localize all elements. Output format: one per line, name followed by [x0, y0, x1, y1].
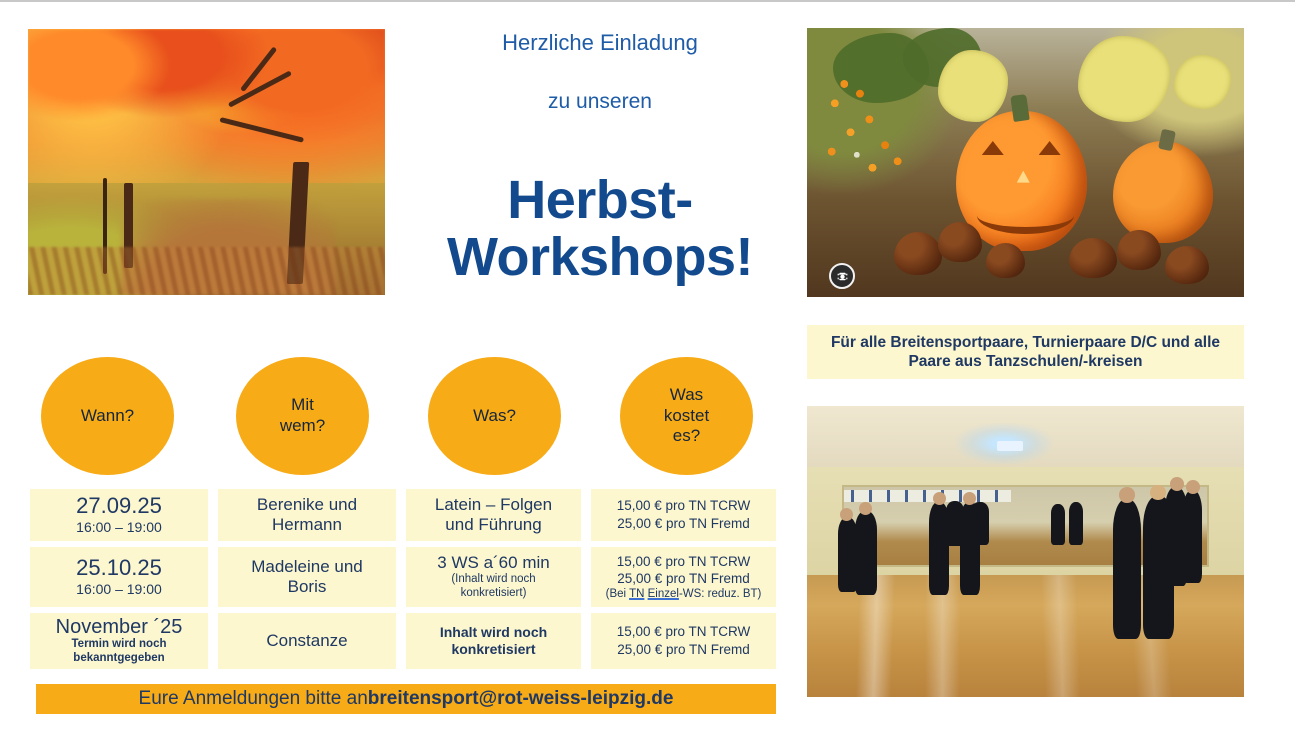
price-2-line-1: 15,00 € pro TN TCRW: [617, 553, 751, 571]
ceiling-lamp: [997, 441, 1023, 451]
price-2-note-pre: (Bei: [606, 588, 629, 600]
chestnut-2: [938, 222, 982, 262]
price-2-note-tn: TN: [629, 588, 644, 600]
note-line-2: Paare aus Tanzschulen/-kreisen: [908, 353, 1142, 370]
circle-label-when: Wann?: [41, 357, 174, 475]
registration-text: Eure Anmeldungen bitte an: [139, 688, 368, 710]
chestnut-1: [894, 232, 942, 275]
circle-cost-line-2: kostet: [664, 406, 709, 425]
orange-berries-cluster: [816, 55, 973, 216]
price-2-note-einzel: Einzel: [648, 588, 679, 600]
date-3: November ´25: [56, 616, 183, 638]
price-3-line-1: 15,00 € pro TN TCRW: [617, 623, 751, 641]
yellow-leaf-2: [1078, 36, 1170, 122]
time-2: 16:00 – 19:00: [76, 581, 162, 598]
dancer-couple-2-a: [929, 502, 949, 595]
invitation-line-1: Herzliche Einladung: [410, 30, 790, 56]
price-2-note: (Bei TN Einzel-WS: reduz. BT): [606, 588, 762, 602]
circle-cost-text: Was kostet es?: [664, 385, 709, 447]
chestnut-6: [1165, 246, 1209, 284]
time-1: 16:00 – 19:00: [76, 519, 162, 536]
cell-when-3: November ´25 Termin wird noch bekanntgeg…: [30, 613, 208, 669]
table-row: 25.10.25 16:00 – 19:00 Madeleine und Bor…: [30, 547, 776, 607]
trainers-1-line-1: Berenike und: [257, 495, 357, 515]
circle-what-text: Was?: [473, 406, 516, 427]
circle-with-whom-line-2: wem?: [280, 416, 325, 435]
autumn-park-image: [28, 29, 385, 295]
circle-cost-line-3: es?: [673, 426, 700, 445]
content-1-line-2: und Führung: [445, 515, 541, 535]
content-3-line-1: Inhalt wird noch: [440, 624, 547, 641]
trainers-1-line-2: Hermann: [272, 515, 342, 535]
invitation-line-2: zu unseren: [410, 90, 790, 114]
dancer-couple-4-b: [1183, 490, 1203, 583]
content-2-line-3: konkretisiert): [461, 587, 527, 601]
cell-who-3: Constanze: [218, 613, 396, 669]
registration-banner: Eure Anmeldungen bitte an breitensport@r…: [36, 684, 776, 714]
mirrored-dancer-4: [1069, 502, 1084, 545]
trainers-3-line-1: Constanze: [266, 631, 347, 651]
mirror-reflection-strip: [844, 490, 1011, 503]
content-1-line-1: Latein – Folgen: [435, 495, 552, 515]
cell-who-2: Madeleine und Boris: [218, 547, 396, 607]
page-title-line-1: Herbst-: [400, 172, 800, 229]
content-2-line-2: (Inhalt wird noch: [451, 573, 535, 587]
dancer-couple-2-b: [960, 502, 980, 595]
price-2-note-post: -WS: reduz. BT): [679, 588, 761, 600]
circle-cost-line-1: Was: [670, 385, 703, 404]
trainers-2-line-2: Boris: [288, 577, 327, 597]
price-1-line-1: 15,00 € pro TN TCRW: [617, 497, 751, 515]
dancer-head-4a: [1170, 477, 1184, 491]
content-3-line-2: konkretisiert: [451, 641, 535, 658]
dancer-head-3b: [1150, 485, 1166, 501]
table-row: November ´25 Termin wird noch bekanntgeg…: [30, 613, 776, 669]
pumpkin-halloween-image: [807, 28, 1244, 297]
google-lens-icon[interactable]: [829, 263, 855, 289]
cell-what-2: 3 WS a´60 min (Inhalt wird noch konkreti…: [406, 547, 581, 607]
cell-when-2: 25.10.25 16:00 – 19:00: [30, 547, 208, 607]
dancer-head-2a: [933, 492, 946, 505]
dancer-couple-1-b: [855, 511, 877, 595]
cell-cost-3: 15,00 € pro TN TCRW 25,00 € pro TN Fremd: [591, 613, 776, 669]
cell-what-1: Latein – Folgen und Führung: [406, 489, 581, 541]
trainers-2-line-1: Madeleine und: [251, 557, 363, 577]
circle-with-whom-text: Mit wem?: [280, 395, 325, 436]
orange-pumpkin: [1113, 141, 1214, 243]
cell-cost-2: 15,00 € pro TN TCRW 25,00 € pro TN Fremd…: [591, 547, 776, 607]
cell-who-1: Berenike und Hermann: [218, 489, 396, 541]
dance-studio-image: [807, 406, 1244, 697]
page-top-rule: [0, 0, 1295, 2]
page-title-line-2: Workshops!: [400, 229, 800, 286]
price-1-line-2: 25,00 € pro TN Fremd: [617, 515, 750, 533]
circle-label-what: Was?: [428, 357, 561, 475]
cell-when-1: 27.09.25 16:00 – 19:00: [30, 489, 208, 541]
circle-with-whom-line-1: Mit: [291, 395, 314, 414]
circle-when-text: Wann?: [81, 406, 134, 427]
target-audience-note: Für alle Breitensportpaare, Turnierpaare…: [807, 325, 1244, 379]
content-2-line-1: 3 WS a´60 min: [437, 553, 549, 573]
note-line-1: Für alle Breitensportpaare, Turnierpaare…: [831, 334, 1220, 351]
dancer-couple-3-a: [1113, 499, 1141, 639]
jack-o-lantern-mouth: [977, 197, 1073, 234]
page-title: Herbst- Workshops!: [400, 172, 800, 286]
price-2-line-2: 25,00 € pro TN Fremd: [617, 570, 750, 588]
date-1: 27.09.25: [76, 494, 162, 519]
table-row: 27.09.25 16:00 – 19:00 Berenike und Herm…: [30, 489, 776, 541]
dancer-head-2b: [963, 492, 976, 505]
registration-email[interactable]: breitensport@rot-weiss-leipzig.de: [368, 688, 674, 710]
yellow-leaf-3: [1174, 55, 1231, 109]
autumn-leaf-litter: [28, 247, 385, 295]
date-2: 25.10.25: [76, 556, 162, 581]
chestnut-5: [1117, 230, 1161, 270]
dancer-head-1b: [859, 502, 872, 515]
cell-cost-1: 15,00 € pro TN TCRW 25,00 € pro TN Fremd: [591, 489, 776, 541]
chestnut-4: [1069, 238, 1117, 278]
chestnut-3: [986, 243, 1025, 278]
workshop-table: 27.09.25 16:00 – 19:00 Berenike und Herm…: [30, 489, 776, 675]
circle-label-cost: Was kostet es?: [620, 357, 753, 475]
price-3-line-2: 25,00 € pro TN Fremd: [617, 641, 750, 659]
date-3-note-line-2: bekanntgegeben: [73, 652, 164, 666]
date-3-note-line-1: Termin wird noch: [72, 638, 167, 652]
circle-label-with-whom: Mit wem?: [236, 357, 369, 475]
cell-what-3: Inhalt wird noch konkretisiert: [406, 613, 581, 669]
mirrored-dancer-3: [1051, 504, 1066, 545]
autumn-canopy-layer: [28, 29, 385, 194]
